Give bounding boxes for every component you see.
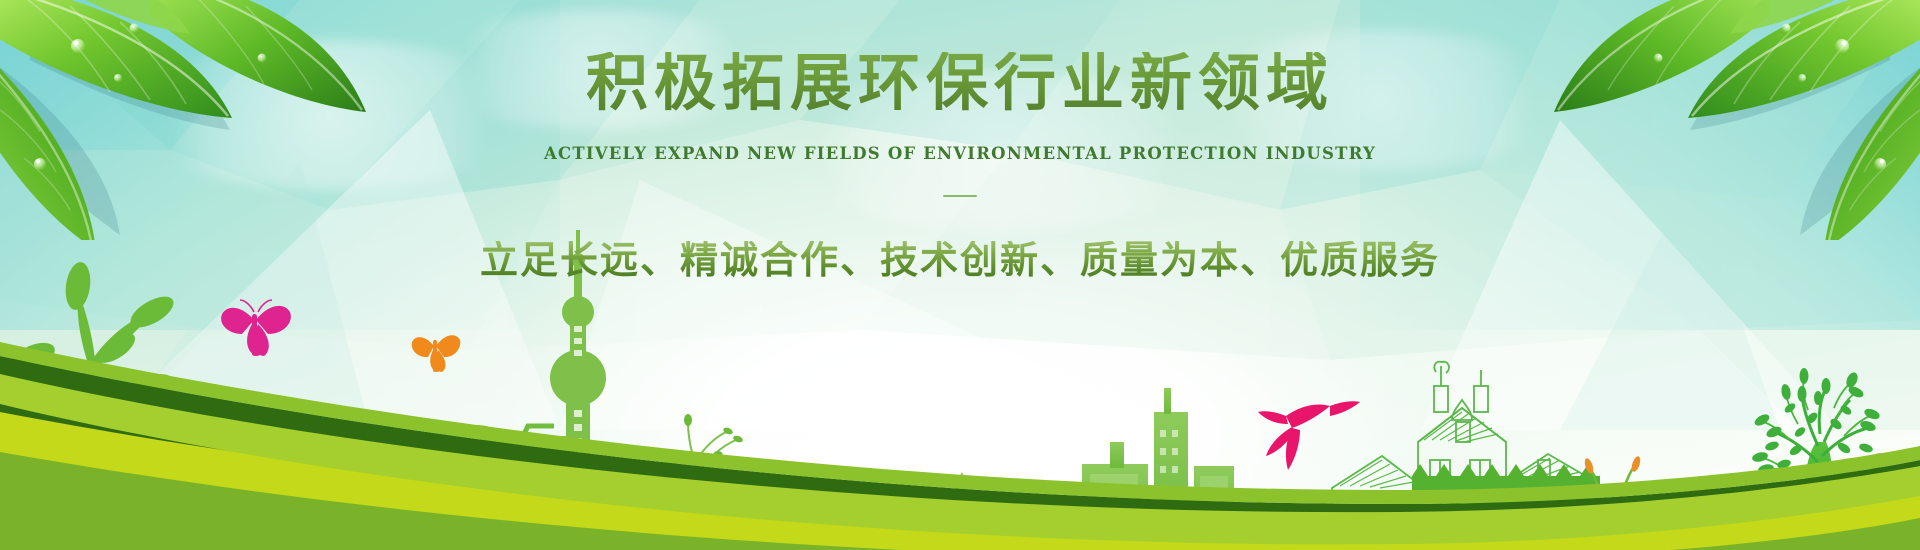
eco-banner: 积极拓展环保行业新领域 ACTIVELY EXPAND NEW FIELDS O… — [0, 0, 1920, 550]
divider-rule — [943, 195, 977, 197]
page-subtitle: ACTIVELY EXPAND NEW FIELDS OF ENVIRONMEN… — [0, 144, 1920, 163]
banner-text-block: 积极拓展环保行业新领域 ACTIVELY EXPAND NEW FIELDS O… — [0, 52, 1920, 279]
page-tagline: 立足长远、精诚合作、技术创新、质量为本、优质服务 — [0, 241, 1920, 279]
page-title: 积极拓展环保行业新领域 — [0, 52, 1920, 114]
wave-ribbons — [0, 320, 1920, 550]
